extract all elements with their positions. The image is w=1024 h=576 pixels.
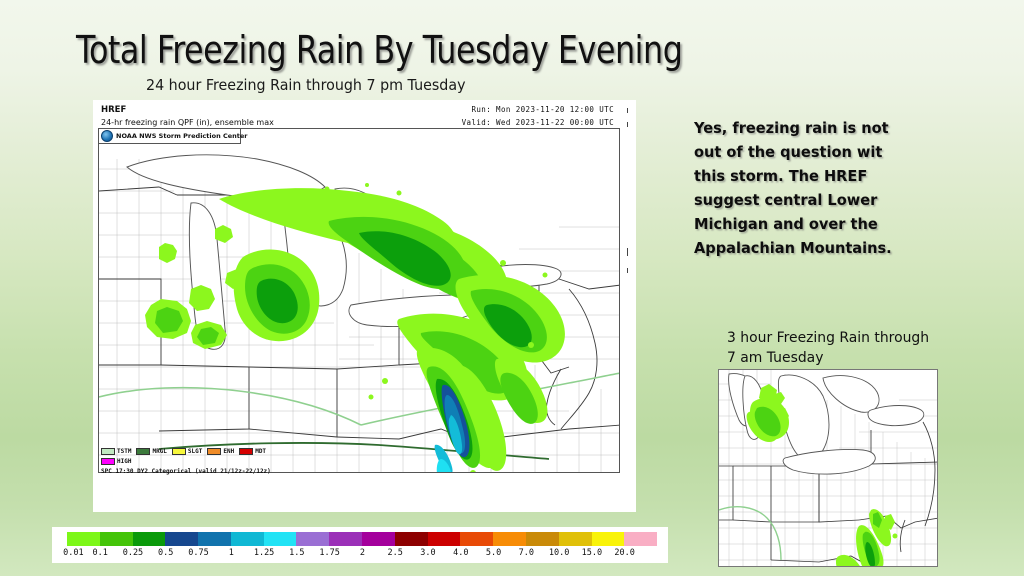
colorbar-swatch-5.0 (493, 532, 526, 546)
spc-legend-item: TSTM (101, 448, 131, 455)
spc-swatch-high (101, 458, 115, 465)
colorbar-tick-5.0: 5.0 (477, 548, 510, 561)
spc-label-enh: ENH (223, 448, 234, 455)
colorbar-tick-3.0: 3.0 (412, 548, 445, 561)
colorbar-tick-1.5: 1.5 (280, 548, 313, 561)
map-svg (99, 129, 620, 473)
main-map-caption: 24 hour Freezing Rain through 7 pm Tuesd… (146, 76, 466, 94)
edge-tick (627, 122, 628, 127)
inset-map-caption: 3 hour Freezing Rain through 7 am Tuesda… (727, 328, 938, 368)
spc-legend-item: MRGL (136, 448, 166, 455)
colorbar-tick-1.25: 1.25 (248, 548, 281, 561)
colorbar-swatch-10.0 (559, 532, 592, 546)
noaa-logo: NOAA NWS Storm Prediction Center (98, 128, 241, 144)
spc-label-slgt: SLGT (188, 448, 202, 455)
spc-swatch-mrgl (136, 448, 150, 455)
spc-categorical-legend: TSTM MRGL SLGT ENH MDT HIGH (101, 448, 401, 475)
spc-swatch-tstm (101, 448, 115, 455)
colorbar-swatch-0.5 (165, 532, 198, 546)
spc-label-high: HIGH (117, 458, 131, 465)
spc-outlook-note: SPC 17:30 DY2 Categorical (valid 21/12z-… (101, 468, 401, 475)
spc-label-mrgl: MRGL (152, 448, 166, 455)
map-canvas[interactable] (98, 128, 620, 473)
spc-legend-item: HIGH (101, 458, 131, 465)
colorbar-tick-0.75: 0.75 (182, 548, 215, 561)
spc-legend-item: ENH (207, 448, 234, 455)
colorbar-tick-2.5: 2.5 (379, 548, 412, 561)
spc-legend-row-2: HIGH (101, 458, 401, 465)
colorbar-swatch-4.0 (460, 532, 493, 546)
spc-swatch-slgt (172, 448, 186, 455)
colorbar-tick-2: 2 (346, 548, 379, 561)
colorbar-swatch-3.0 (428, 532, 461, 546)
noaa-seal-icon (101, 130, 113, 142)
colorbar-tick-0.25: 0.25 (117, 548, 150, 561)
colorbar-tick-0.5: 0.5 (149, 548, 182, 561)
colorbar-tick-20.0: 20.0 (608, 548, 641, 561)
colorbar-strip (67, 532, 657, 546)
edge-tick (627, 248, 628, 256)
colorbar-tick-4.0: 4.0 (444, 548, 477, 561)
spc-legend-item: SLGT (172, 448, 202, 455)
colorbar-swatch-1.75 (329, 532, 362, 546)
colorbar-swatch-0.01 (67, 532, 100, 546)
colorbar-tick-7.0: 7.0 (510, 548, 543, 561)
noaa-logo-text: NOAA NWS Storm Prediction Center (116, 132, 248, 140)
spc-swatch-enh (207, 448, 221, 455)
colorbar-swatch-1.5 (296, 532, 329, 546)
colorbar-swatch-2.5 (395, 532, 428, 546)
colorbar-swatch-1 (231, 532, 264, 546)
colorbar-swatch-1.25 (264, 532, 297, 546)
commentary-text: Yes, freezing rain is not out of the que… (694, 116, 916, 260)
model-label: HREF (101, 105, 126, 115)
spc-swatch-mdt (239, 448, 253, 455)
colorbar-swatch-20.0 (624, 532, 657, 546)
inset-map-svg (719, 370, 938, 567)
product-label: 24-hr freezing rain QPF (in), ensemble m… (101, 118, 274, 127)
colorbar-panel: 0.010.10.250.50.7511.251.51.7522.53.04.0… (52, 527, 668, 563)
colorbar-swatch-0.75 (198, 532, 231, 546)
colorbar-tick-1: 1 (215, 548, 248, 561)
colorbar-swatch-0.1 (100, 532, 133, 546)
colorbar-swatch-0.25 (133, 532, 166, 546)
colorbar-tick-labels: 0.010.10.250.50.7511.251.51.7522.53.04.0… (67, 548, 657, 561)
edge-tick (627, 108, 628, 113)
colorbar-tick-15.0: 15.0 (576, 548, 609, 561)
edge-tick (627, 268, 628, 273)
spc-legend-row: TSTM MRGL SLGT ENH MDT (101, 448, 401, 455)
colorbar-swatch-7.0 (526, 532, 559, 546)
main-map-panel[interactable]: HREF 24-hr freezing rain QPF (in), ensem… (93, 100, 636, 512)
spc-label-mdt: MDT (255, 448, 266, 455)
model-run-label: Run: Mon 2023-11-20 12:00 UTC (471, 105, 614, 114)
colorbar-swatch-15.0 (592, 532, 625, 546)
spc-label-tstm: TSTM (117, 448, 131, 455)
valid-time-label: Valid: Wed 2023-11-22 00:00 UTC (462, 118, 614, 127)
inset-map-panel[interactable] (718, 369, 938, 567)
spc-legend-item: MDT (239, 448, 266, 455)
page-title: Total Freezing Rain By Tuesday Evening (76, 28, 682, 72)
colorbar-tick-10.0: 10.0 (543, 548, 576, 561)
colorbar-swatch-2 (362, 532, 395, 546)
colorbar-tick-0.1: 0.1 (84, 548, 117, 561)
colorbar-tick-1.75: 1.75 (313, 548, 346, 561)
